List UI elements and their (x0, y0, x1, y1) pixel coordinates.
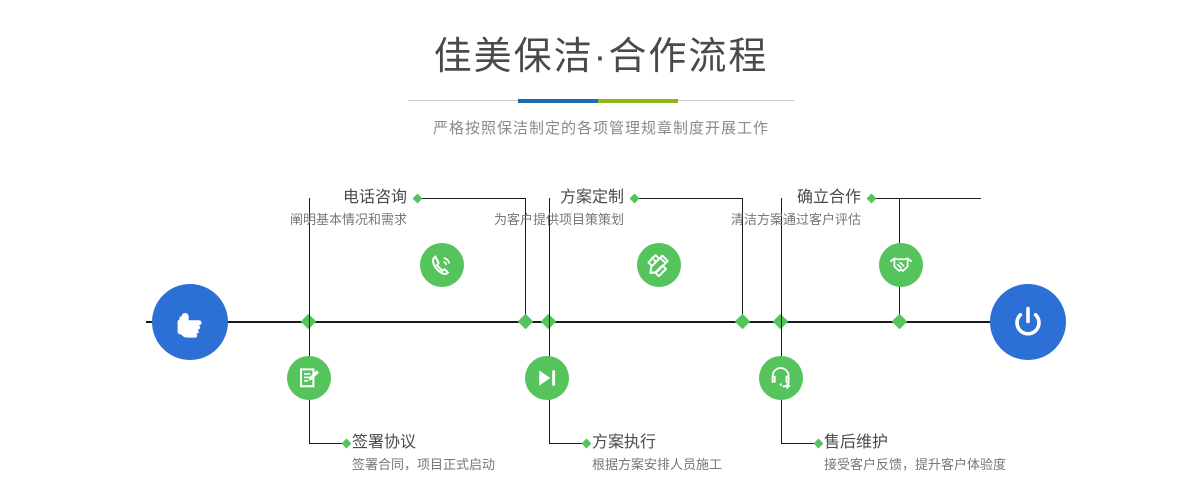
step-title-4: 方案执行 (592, 433, 722, 453)
document-sign-icon (296, 365, 322, 391)
step-title-2: 签署协议 (352, 433, 495, 453)
phone-call-icon (429, 252, 455, 278)
step-node-4[interactable] (525, 356, 569, 400)
axis-marker-step-3b (735, 314, 751, 330)
step-node-1[interactable] (420, 243, 464, 287)
divider-blue-segment (518, 99, 598, 103)
pencil-ruler-icon (646, 252, 672, 278)
power-button-icon (1008, 302, 1048, 342)
axis-marker-step-5b (892, 314, 908, 330)
label-dot-step-3 (630, 194, 640, 204)
step-node-3[interactable] (637, 243, 681, 287)
step-label-5: 确立合作 清洁方案通过客户评估 (701, 188, 861, 229)
label-dot-step-5 (867, 194, 877, 204)
step-desc-5: 清洁方案通过客户评估 (701, 211, 861, 229)
step-desc-2: 签署合同，项目正式启动 (352, 456, 495, 474)
step-desc-6: 接受客户反馈，提升客户体验度 (824, 456, 1006, 474)
step-desc-1: 阐明基本情况和需求 (247, 211, 407, 229)
step-title-6: 售后维护 (824, 433, 1006, 453)
step-label-1: 电话咨询 阐明基本情况和需求 (247, 188, 407, 229)
branch-line-step-5-horizontal (871, 198, 981, 199)
header: 佳美保洁·合作流程 严格按照保洁制定的各项管理规章制度开展工作 (0, 0, 1202, 138)
divider-green-segment (598, 99, 678, 103)
step-label-3: 方案定制 为客户提供项目策策划 (464, 188, 624, 229)
title-divider (408, 98, 794, 104)
pointing-hand-icon (170, 302, 210, 342)
step-desc-3: 为客户提供项目策策划 (464, 211, 624, 229)
flowchart-infographic: 佳美保洁·合作流程 严格按照保洁制定的各项管理规章制度开展工作 (0, 0, 1202, 502)
branch-line-step-6-horizontal (781, 443, 817, 444)
timeline-axis (146, 321, 1056, 323)
step-title-1: 电话咨询 (247, 188, 407, 208)
step-label-4: 方案执行 根据方案安排人员施工 (592, 433, 722, 474)
step-title-3: 方案定制 (464, 188, 624, 208)
step-node-5[interactable] (879, 243, 923, 287)
label-dot-step-6 (814, 439, 824, 449)
page-title: 佳美保洁·合作流程 (0, 38, 1202, 76)
timeline-end-endcap (990, 284, 1066, 360)
label-dot-step-1 (413, 194, 423, 204)
step-label-2: 签署协议 签署合同，项目正式启动 (352, 433, 495, 474)
axis-marker-step-1b (518, 314, 534, 330)
handshake-icon (888, 252, 914, 278)
step-label-6: 售后维护 接受客户反馈，提升客户体验度 (824, 433, 1006, 474)
play-execute-icon (534, 365, 560, 391)
branch-line-step-4-horizontal (549, 443, 585, 444)
step-desc-4: 根据方案安排人员施工 (592, 456, 722, 474)
step-title-5: 确立合作 (701, 188, 861, 208)
step-node-2[interactable] (287, 356, 331, 400)
branch-line-step-2-horizontal (309, 443, 345, 444)
customer-service-add-icon (768, 365, 794, 391)
timeline-start-endcap (152, 284, 228, 360)
label-dot-step-4 (582, 439, 592, 449)
step-node-6[interactable] (759, 356, 803, 400)
label-dot-step-2 (342, 439, 352, 449)
page-subtitle: 严格按照保洁制定的各项管理规章制度开展工作 (0, 117, 1202, 138)
